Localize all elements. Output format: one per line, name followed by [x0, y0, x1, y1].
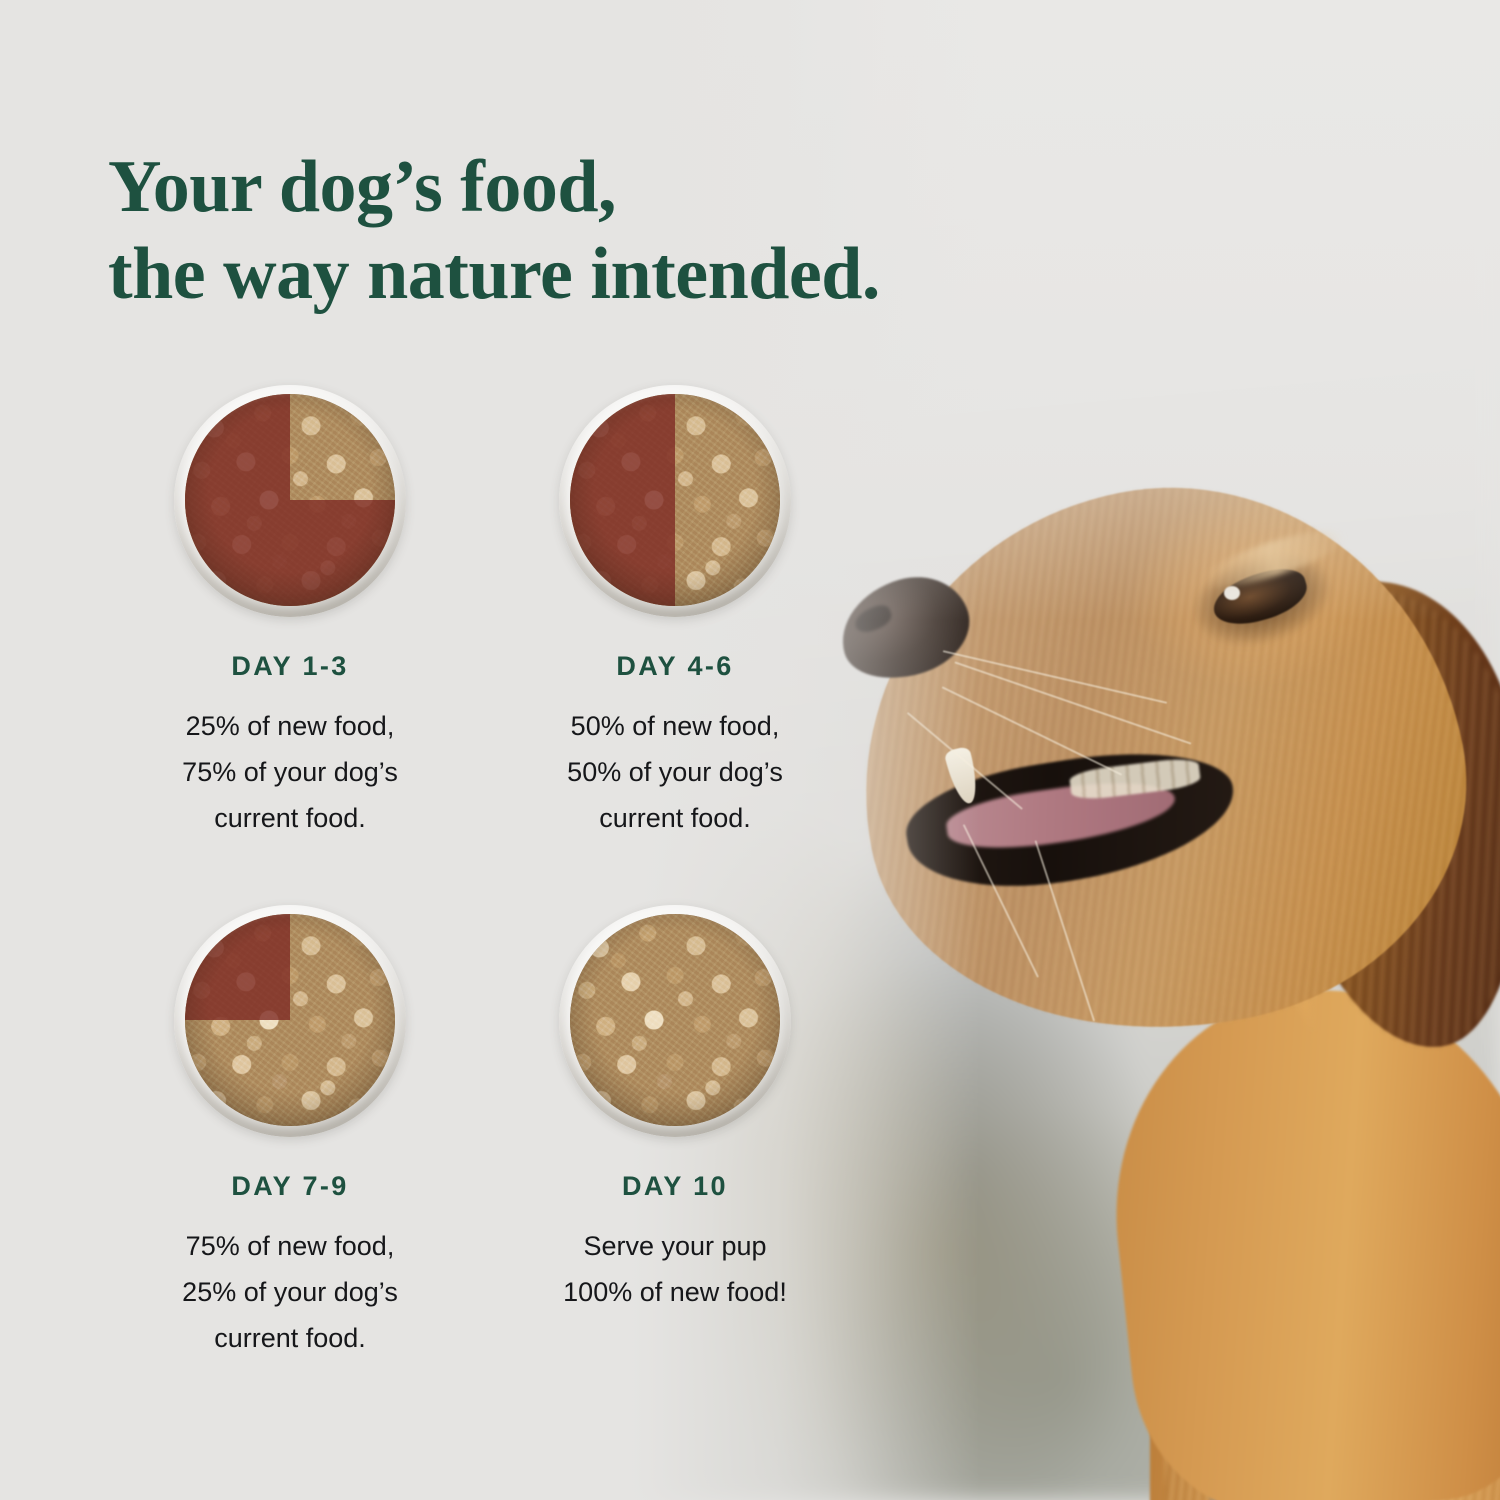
day-label: DAY 4-6 [483, 651, 867, 682]
bowl-rim-highlight [174, 385, 406, 617]
bowl-rim-highlight [559, 905, 791, 1137]
bowl-day-1-3 [174, 385, 406, 617]
dog-neck [1094, 969, 1500, 1500]
bowl-day-7-9 [174, 905, 406, 1137]
day-description: 25% of new food, 75% of your dog’s curre… [98, 704, 482, 842]
page-title: Your dog’s food, the way nature intended… [108, 144, 1108, 319]
day-label: DAY 7-9 [98, 1171, 482, 1202]
feeding-step-card: DAY 4-6 50% of new food, 50% of your dog… [483, 385, 867, 842]
bowl-dish [559, 905, 791, 1137]
feeding-step-card: DAY 1-3 25% of new food, 75% of your dog… [98, 385, 482, 842]
bowl-dish [174, 385, 406, 617]
day-label: DAY 10 [483, 1171, 867, 1202]
day-description: 75% of new food, 25% of your dog’s curre… [98, 1224, 482, 1362]
day-label: DAY 1-3 [98, 651, 482, 682]
bowl-rim-highlight [174, 905, 406, 1137]
day-description: 50% of new food, 50% of your dog’s curre… [483, 704, 867, 842]
feeding-step-card: DAY 10 Serve your pup 100% of new food! [483, 905, 867, 1316]
bowl-dish [174, 905, 406, 1137]
bowl-dish [559, 385, 791, 617]
bowl-rim-highlight [559, 385, 791, 617]
content-panel: Your dog’s food, the way nature intended… [0, 0, 840, 1500]
bowl-day-10 [559, 905, 791, 1137]
day-description: Serve your pup 100% of new food! [483, 1224, 867, 1316]
feeding-step-card: DAY 7-9 75% of new food, 25% of your dog… [98, 905, 482, 1362]
bowl-day-4-6 [559, 385, 791, 617]
